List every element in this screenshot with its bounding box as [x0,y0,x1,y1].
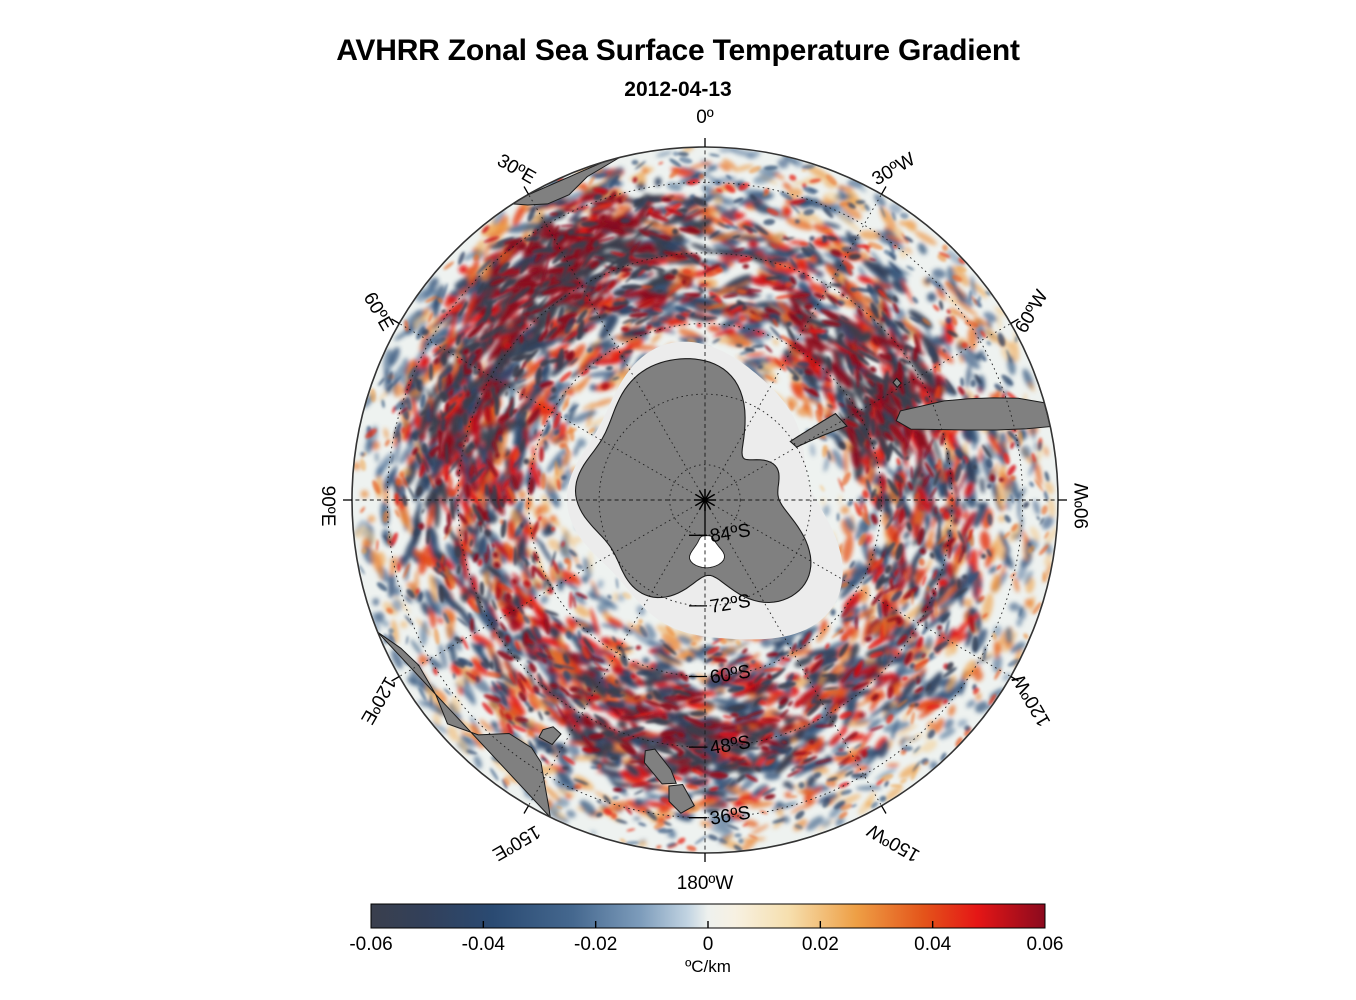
polar-map-svg: 0º30ºE60ºE90ºE120ºE150ºE180ºW150ºW120ºW9… [0,0,1356,1000]
colorbar-tick-label: -0.04 [462,934,506,955]
longitude-label-240: 120ºW [1009,670,1056,730]
colorbar-tick-label: 0 [703,934,714,955]
longitude-label-300: 60ºW [1011,287,1052,337]
colorbar-tick-label: -0.06 [349,934,392,955]
colorbar-tick-label: 0.02 [802,934,839,955]
colorbar-tick-label: 0.06 [1027,934,1064,955]
longitude-label-0: 0º [696,107,714,128]
colorbar[interactable]: -0.06-0.04-0.0200.020.040.06 ºC/km [349,904,1063,976]
figure-root: AVHRR Zonal Sea Surface Temperature Grad… [0,0,1356,1000]
longitude-label-30: 30ºE [493,150,539,189]
longitude-label-330: 30ºW [869,149,919,190]
longitude-label-60: 60ºE [359,289,398,335]
map-container: 0º30ºE60ºE90ºE120ºE150ºE180ºW150ºW120ºW9… [0,0,1356,1000]
longitude-label-150: 150ºE [489,821,544,865]
colorbar-tick-label: -0.02 [574,934,617,955]
colorbar-tick-label: 0.04 [914,934,951,955]
longitude-tick [882,806,887,814]
colorbar-unit-label: ºC/km [685,957,731,976]
longitude-label-90: 90ºE [317,486,338,527]
longitude-label-180: 180ºW [677,873,734,894]
longitude-tick [524,806,529,814]
longitude-label-270: 90ºW [1072,483,1093,529]
longitude-label-210: 150ºW [864,819,924,866]
longitude-label-120: 120ºE [356,673,400,728]
colorbar-tick-labels: -0.06-0.04-0.0200.020.040.06 [349,934,1063,955]
